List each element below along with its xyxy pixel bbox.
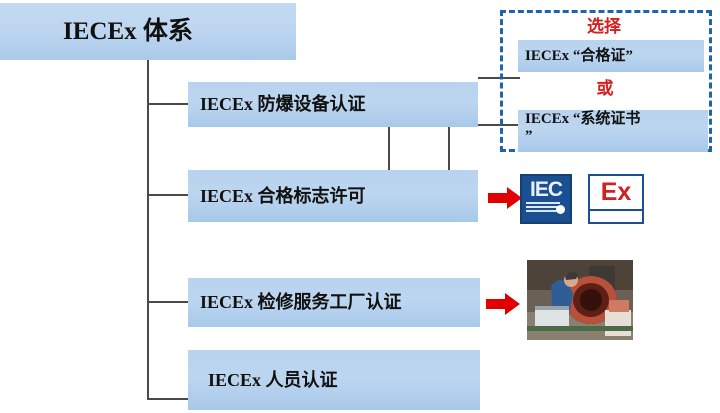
branch-line-repair: [147, 301, 189, 303]
workshop-repair-photo: [525, 258, 635, 342]
red-right-arrow-icon-mark: [488, 186, 522, 210]
selection-group-header: 选择: [574, 12, 634, 37]
node-repair-facility-certification[interactable]: IECEx 检修服务工厂认证: [188, 278, 480, 327]
iec-logo-text: IEC: [530, 179, 562, 200]
ex-mark-rule: [590, 209, 642, 211]
diagram-canvas: IECEx 体系 IECEx 防爆设备认证 IECEx 合格标志许可 IECEx…: [0, 0, 720, 413]
iec-logo-lines: [526, 202, 566, 216]
node-label-repair: IECEx 检修服务工厂认证: [188, 292, 402, 312]
iec-logo-dot: [556, 205, 565, 214]
branch-line-equipment: [147, 103, 189, 105]
connector-drop-right: [448, 127, 450, 171]
node-personnel-certification[interactable]: IECEx 人员认证: [188, 350, 480, 410]
red-right-arrow-icon-repair: [486, 292, 520, 316]
tree-trunk-line: [147, 60, 149, 400]
ex-mark-icon: Ex: [588, 174, 644, 224]
node-label-coc: IECEx “合格证”: [518, 48, 633, 65]
node-label-personnel: IECEx 人员认证: [188, 370, 338, 390]
node-certificate-of-conformity[interactable]: IECEx “合格证”: [518, 40, 704, 72]
node-label-system: IECEx “系统证书 ”: [518, 110, 640, 145]
node-system-certificate[interactable]: IECEx “系统证书 ”: [518, 110, 708, 152]
page-title: IECEx 体系: [0, 18, 193, 46]
selection-separator-or: 或: [588, 74, 622, 99]
ex-mark-text: Ex: [590, 176, 642, 209]
branch-line-mark: [147, 194, 189, 196]
node-label-mark: IECEx 合格标志许可: [188, 186, 366, 206]
node-mark-licensing[interactable]: IECEx 合格标志许可: [188, 170, 478, 222]
branch-line-personnel: [147, 398, 189, 400]
connector-drop-left: [388, 127, 390, 171]
node-equipment-certification[interactable]: IECEx 防爆设备认证: [188, 82, 478, 127]
iec-logo-icon: IEC: [520, 174, 572, 224]
diagram-title-box: IECEx 体系: [0, 3, 296, 60]
node-label-equipment: IECEx 防爆设备认证: [188, 94, 366, 114]
